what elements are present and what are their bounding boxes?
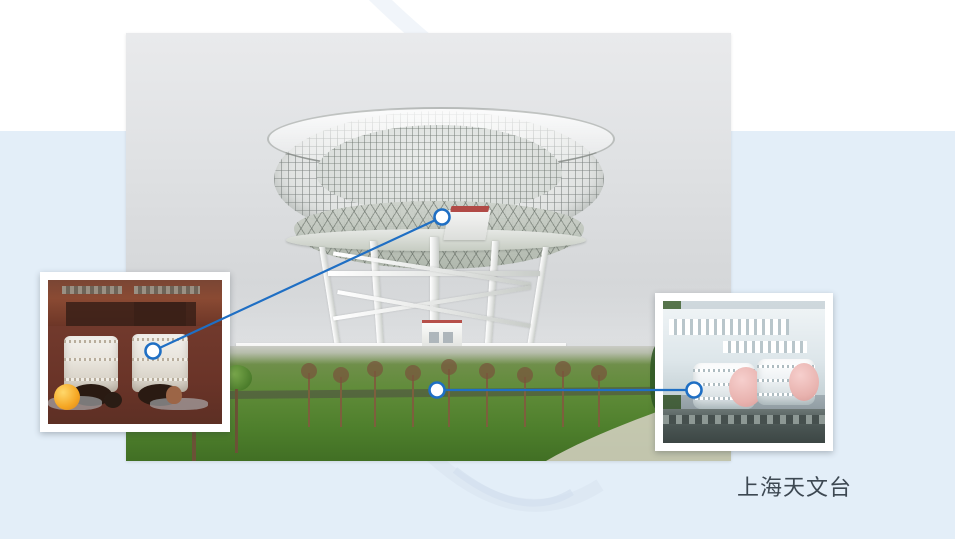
dish-feed-cabin (443, 210, 490, 240)
dish-reflector-inner (316, 125, 562, 213)
actuator-endcap-back (789, 363, 819, 401)
inset-right-image (663, 301, 825, 443)
sapling (308, 373, 310, 427)
slide-caption: 上海天文台 (737, 470, 852, 502)
worker-head (166, 386, 182, 404)
bolt-row (134, 286, 200, 294)
inset-photo-right[interactable] (655, 293, 833, 451)
housing-fin-row (723, 341, 807, 353)
sapling (448, 369, 450, 427)
inset-photo-left[interactable] (40, 272, 230, 432)
control-hut (422, 320, 462, 349)
housing-fin-row (669, 319, 789, 335)
inset-left-image (48, 280, 222, 424)
worker-head-dark (104, 392, 122, 408)
mounting-rail (663, 409, 825, 443)
bolt-row (62, 286, 122, 294)
sapling (598, 375, 600, 427)
mount-leg (484, 241, 499, 359)
sapling (340, 377, 342, 427)
sapling (486, 373, 488, 427)
machinery-shadow-recess (134, 302, 196, 326)
sapling (562, 371, 564, 427)
slide-canvas: 上海天文台 (0, 0, 955, 539)
orange-helmet (54, 384, 80, 410)
sapling (524, 377, 526, 427)
mount-crossbeam (328, 271, 540, 276)
sapling (374, 371, 376, 427)
sapling (412, 375, 414, 427)
